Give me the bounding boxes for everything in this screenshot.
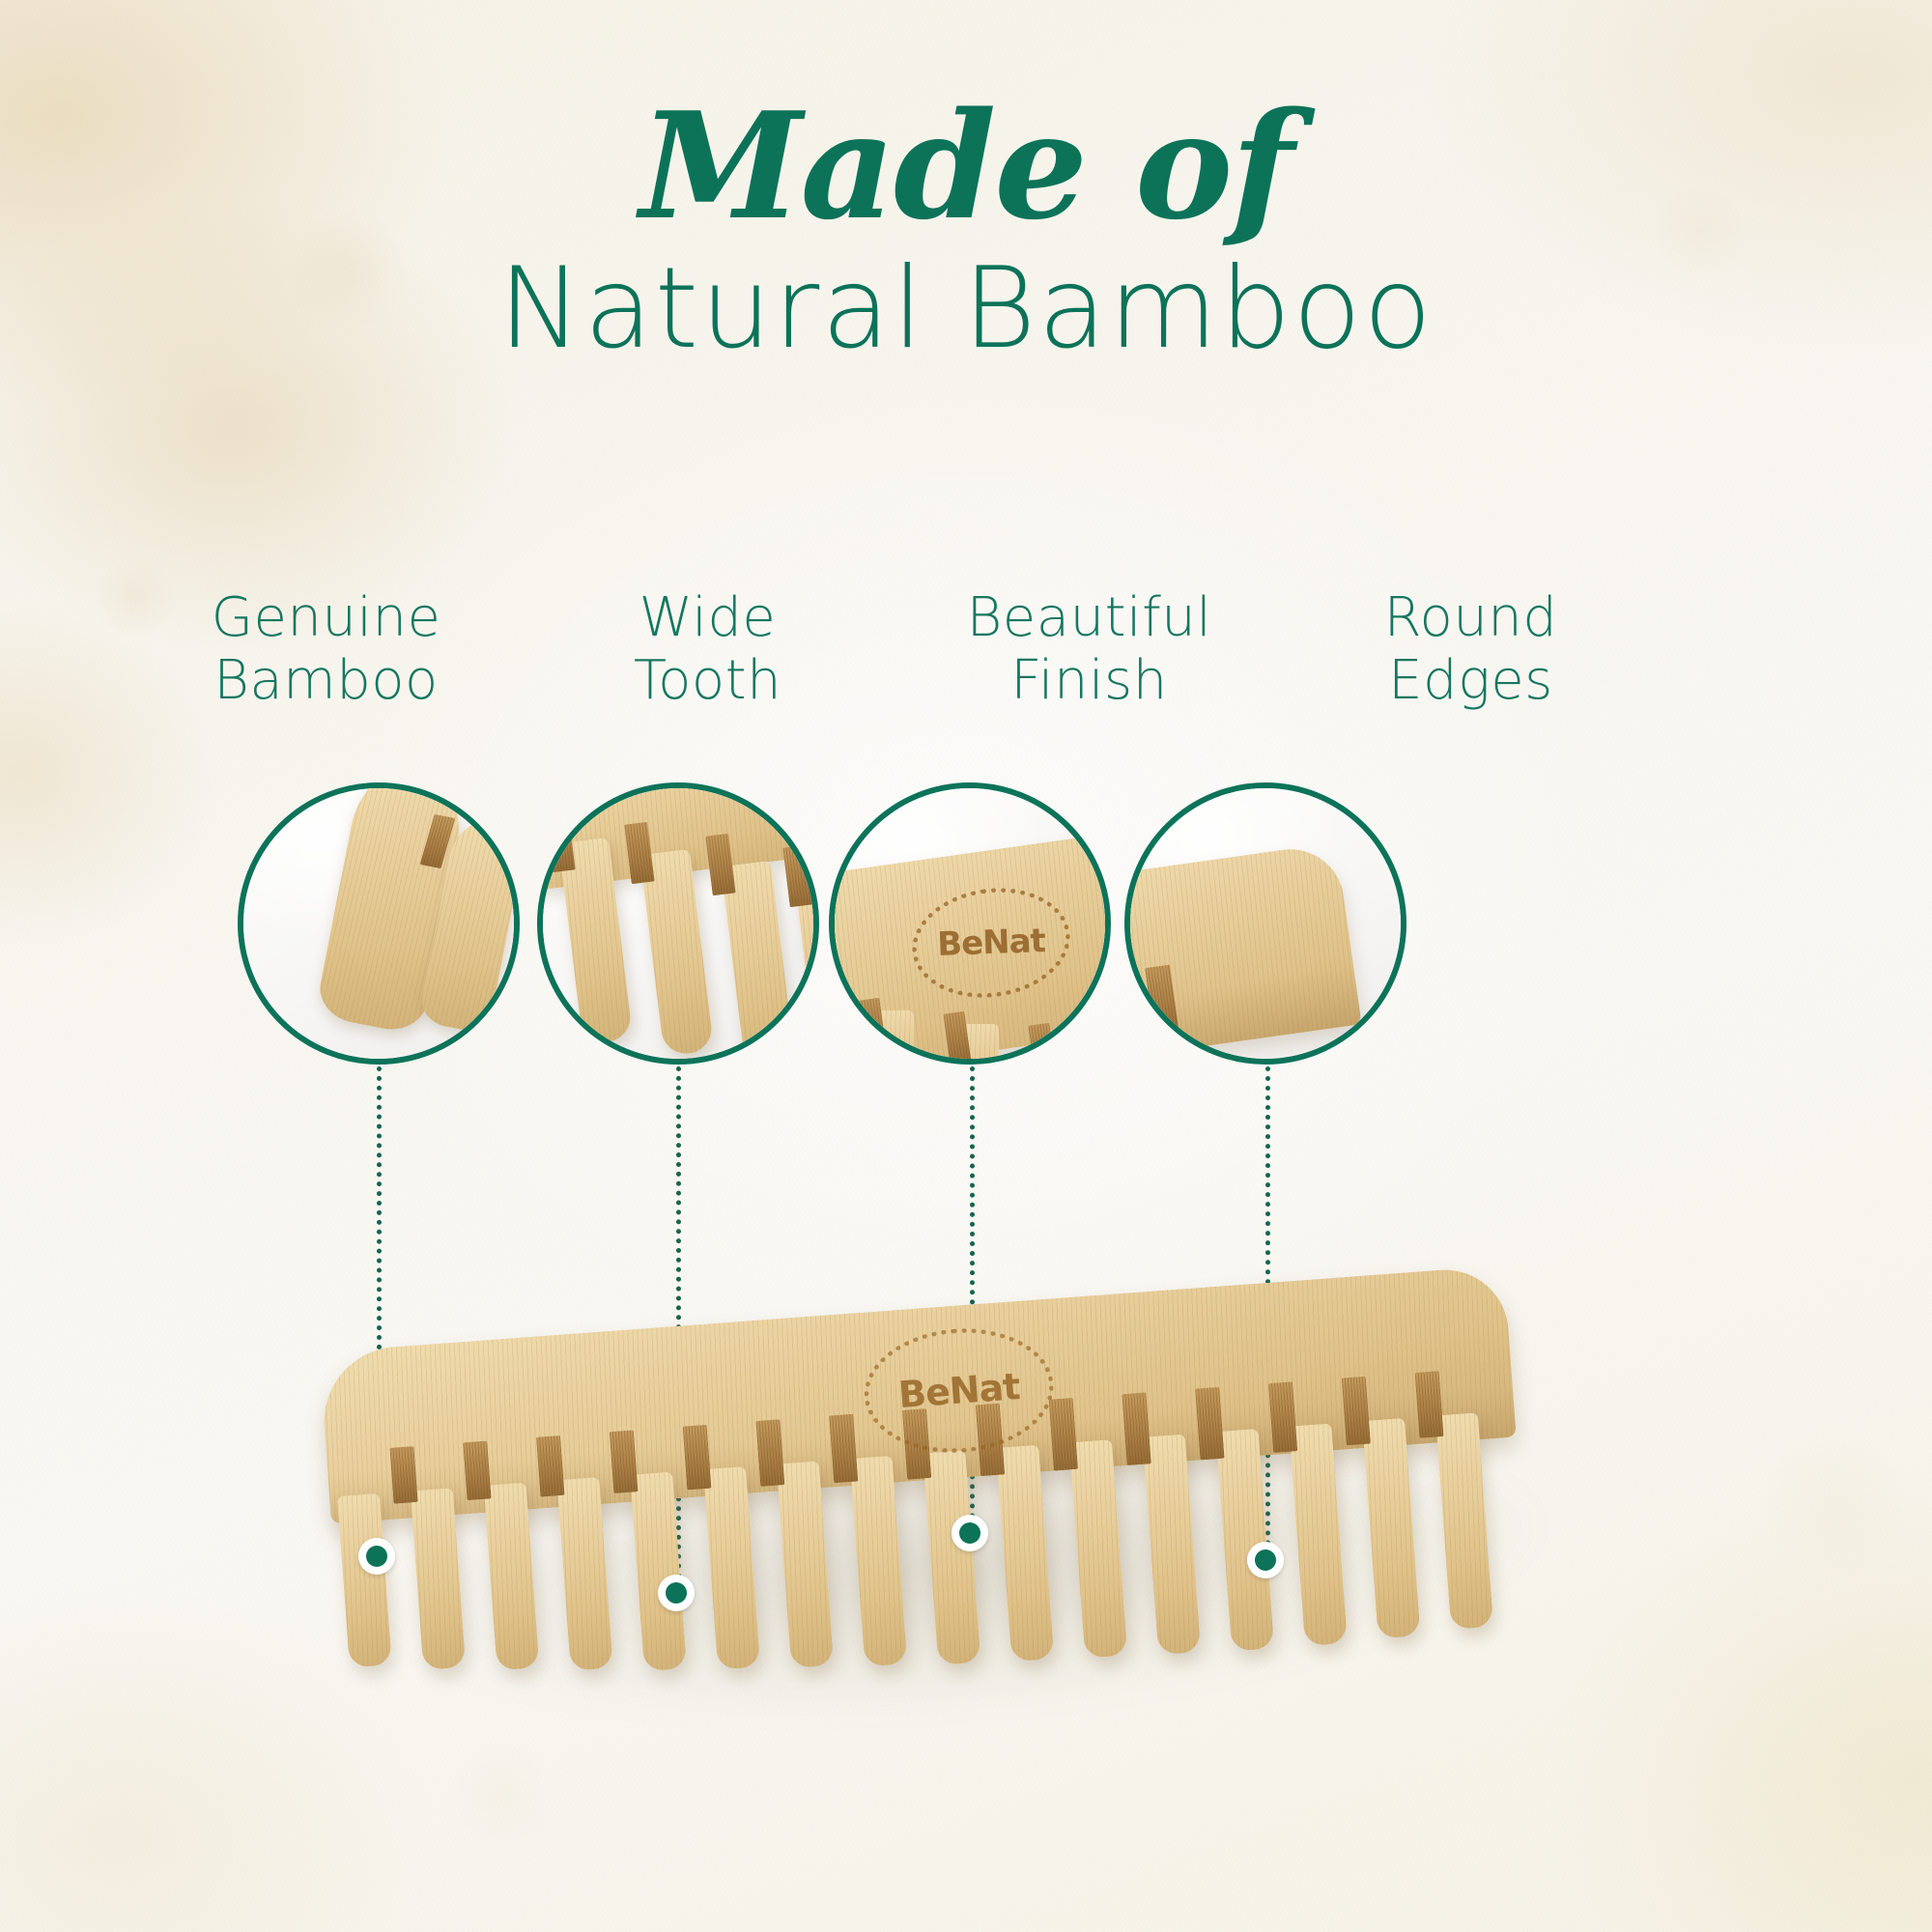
comb-slot <box>829 1414 858 1484</box>
infographic-canvas: Made of Natural Bamboo Genuine Bamboo Wi… <box>0 0 1932 1932</box>
marker-genuine-bamboo[interactable] <box>358 1538 395 1575</box>
comb-slot <box>1268 1381 1297 1453</box>
comb-slot <box>536 1435 564 1497</box>
marker-beautiful-finish[interactable] <box>952 1515 988 1551</box>
feature-label-beautiful-finish: Beautiful Finish <box>898 587 1280 732</box>
feature-label-text: Wide Tooth <box>517 587 898 713</box>
feature-label-text: Beautiful Finish <box>898 587 1280 713</box>
marker-round-edges[interactable] <box>1247 1542 1284 1578</box>
comb-slot <box>755 1419 784 1487</box>
comb-slot <box>610 1430 639 1493</box>
callout-photo-beautiful-finish: BeNat <box>829 782 1111 1065</box>
feature-label-round-edges: Round Edges <box>1280 587 1662 732</box>
comb-slot <box>683 1425 712 1491</box>
callout-photo-round-edges <box>1124 782 1406 1065</box>
callout-circle-beautiful-finish: BeNat <box>829 782 1111 1065</box>
brand-engraving: BeNat <box>860 1322 1058 1460</box>
feature-label-wide-tooth: Wide Tooth <box>517 587 898 732</box>
engraving-brand-text: BeNat <box>860 1322 1058 1460</box>
feature-labels-row: Genuine Bamboo Wide Tooth Beautiful Fini… <box>135 587 1662 732</box>
callout-photo-wide-tooth <box>537 782 819 1065</box>
comb-slot <box>463 1440 491 1500</box>
comb-slot <box>1415 1371 1444 1438</box>
comb-slot <box>389 1446 417 1504</box>
comb-slot <box>1195 1387 1224 1461</box>
marker-wide-tooth[interactable] <box>658 1575 695 1611</box>
headline-line-2: Natural Bamboo <box>0 253 1932 365</box>
callout-circle-round-edges <box>1124 782 1406 1065</box>
callout-circle-genuine-bamboo <box>238 782 520 1065</box>
headline-line-1: Made of <box>0 93 1932 240</box>
headline-block: Made of Natural Bamboo <box>0 93 1932 365</box>
engraving-brand-text: BeNat <box>910 886 1072 1000</box>
comb-slot <box>1122 1392 1151 1465</box>
callout-circle-wide-tooth <box>537 782 819 1065</box>
feature-label-genuine-bamboo: Genuine Bamboo <box>135 587 517 732</box>
comb-slot <box>1342 1377 1371 1446</box>
feature-label-text: Genuine Bamboo <box>135 587 517 713</box>
callout-photo-genuine-bamboo <box>238 782 520 1065</box>
brand-engraving-detail: BeNat <box>905 878 1077 1008</box>
feature-label-text: Round Edges <box>1280 587 1662 713</box>
